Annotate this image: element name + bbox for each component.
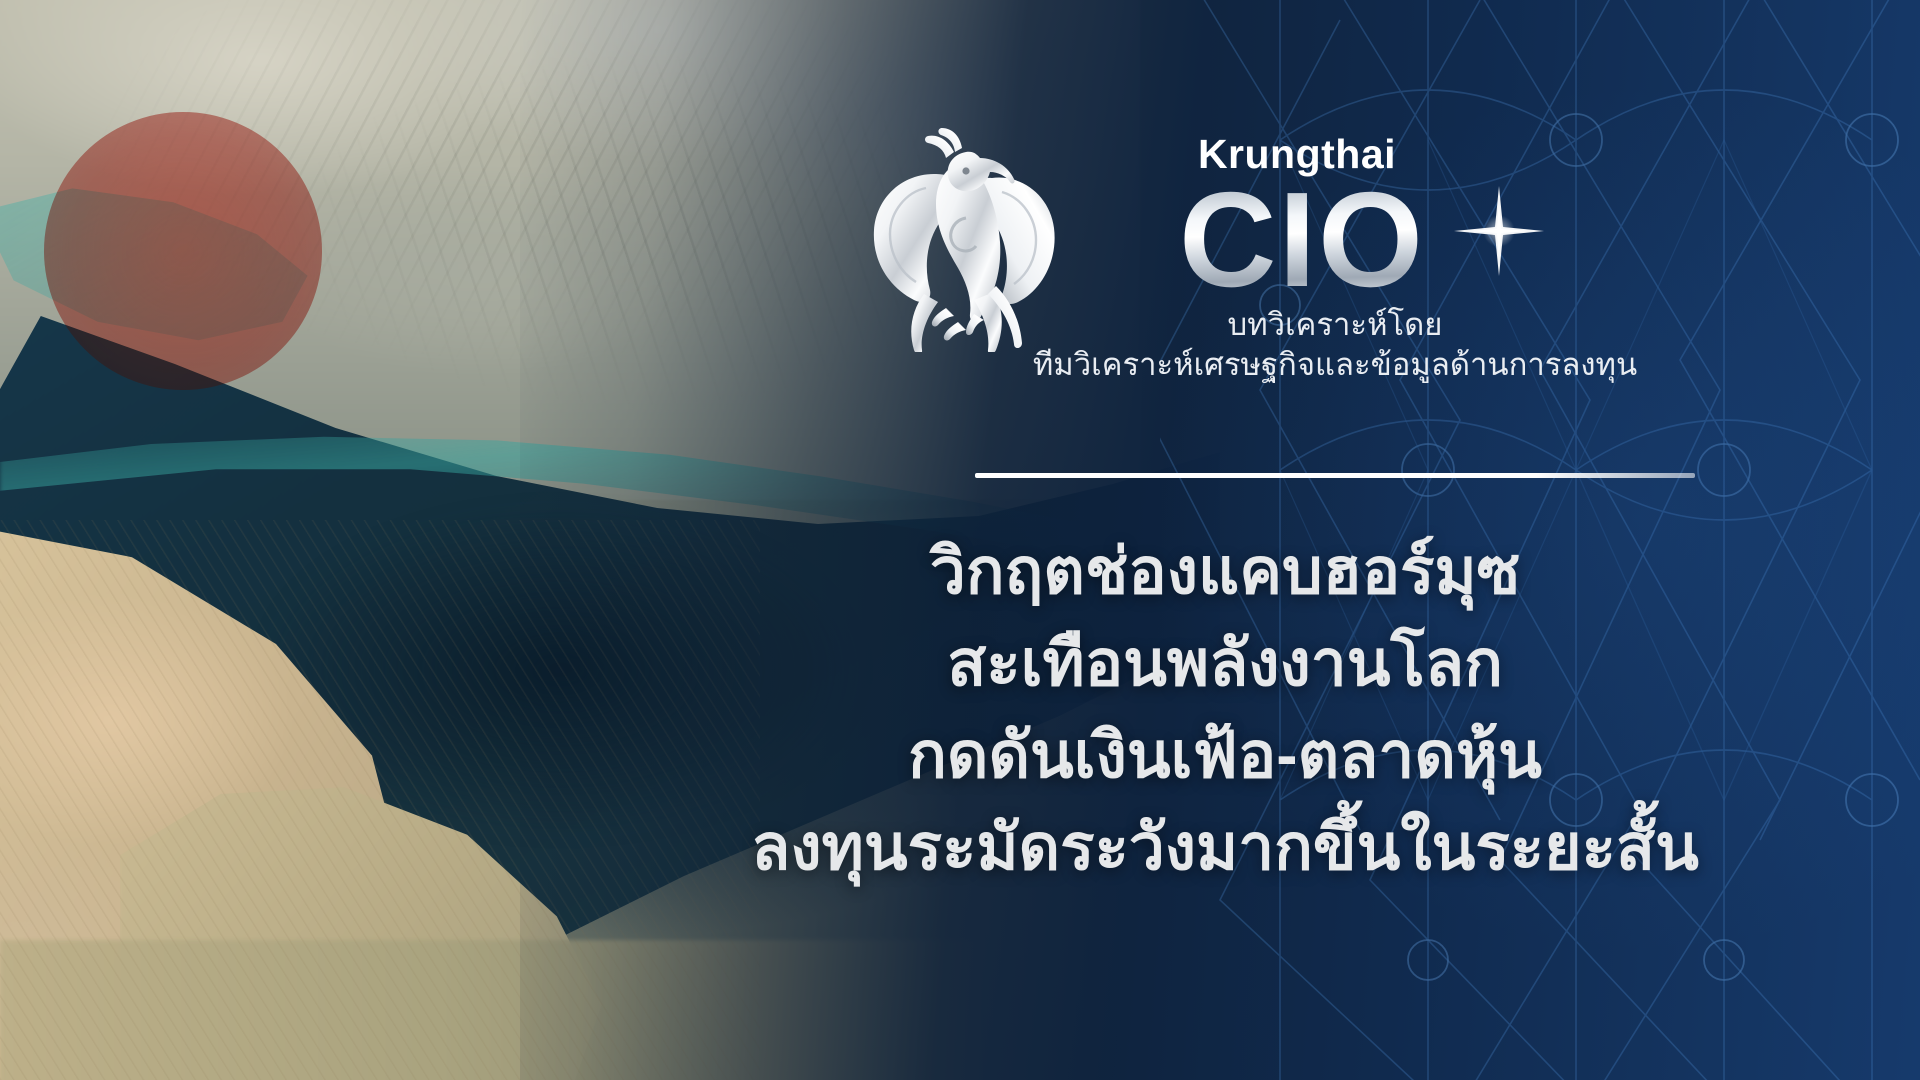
header-divider: [975, 473, 1695, 478]
headline-line-4: ลงทุนระมัดระวังมากขึ้นในระยะสั้น: [560, 801, 1890, 893]
page-title: วิกฤตช่องแคบฮอร์มุซ สะเทือนพลังงานโลก กด…: [560, 525, 1890, 894]
brand-product-cio: CIO: [1052, 172, 1552, 307]
byline-line-2: ทีมวิเคราะห์เศรษฐกิจและข้อมูลด้านการลงทุ…: [800, 345, 1870, 385]
red-hotspot-glow: [44, 112, 322, 390]
headline-line-3: กดดันเงินเฟ้อ-ตลาดหุ้น: [560, 709, 1890, 801]
byline-block: บทวิเคราะห์โดย ทีมวิเคราะห์เศรษฐกิจและข้…: [800, 305, 1870, 386]
headline-line-2: สะเทือนพลังงานโลก: [560, 617, 1890, 709]
headline-line-1: วิกฤตช่องแคบฮอร์มุซ: [560, 525, 1890, 617]
byline-line-1: บทวิเคราะห์โดย: [800, 305, 1870, 345]
poster-canvas: Krungthai CIO บทวิเคราะห์โดย ทีมวิเคราะห…: [0, 0, 1920, 1080]
